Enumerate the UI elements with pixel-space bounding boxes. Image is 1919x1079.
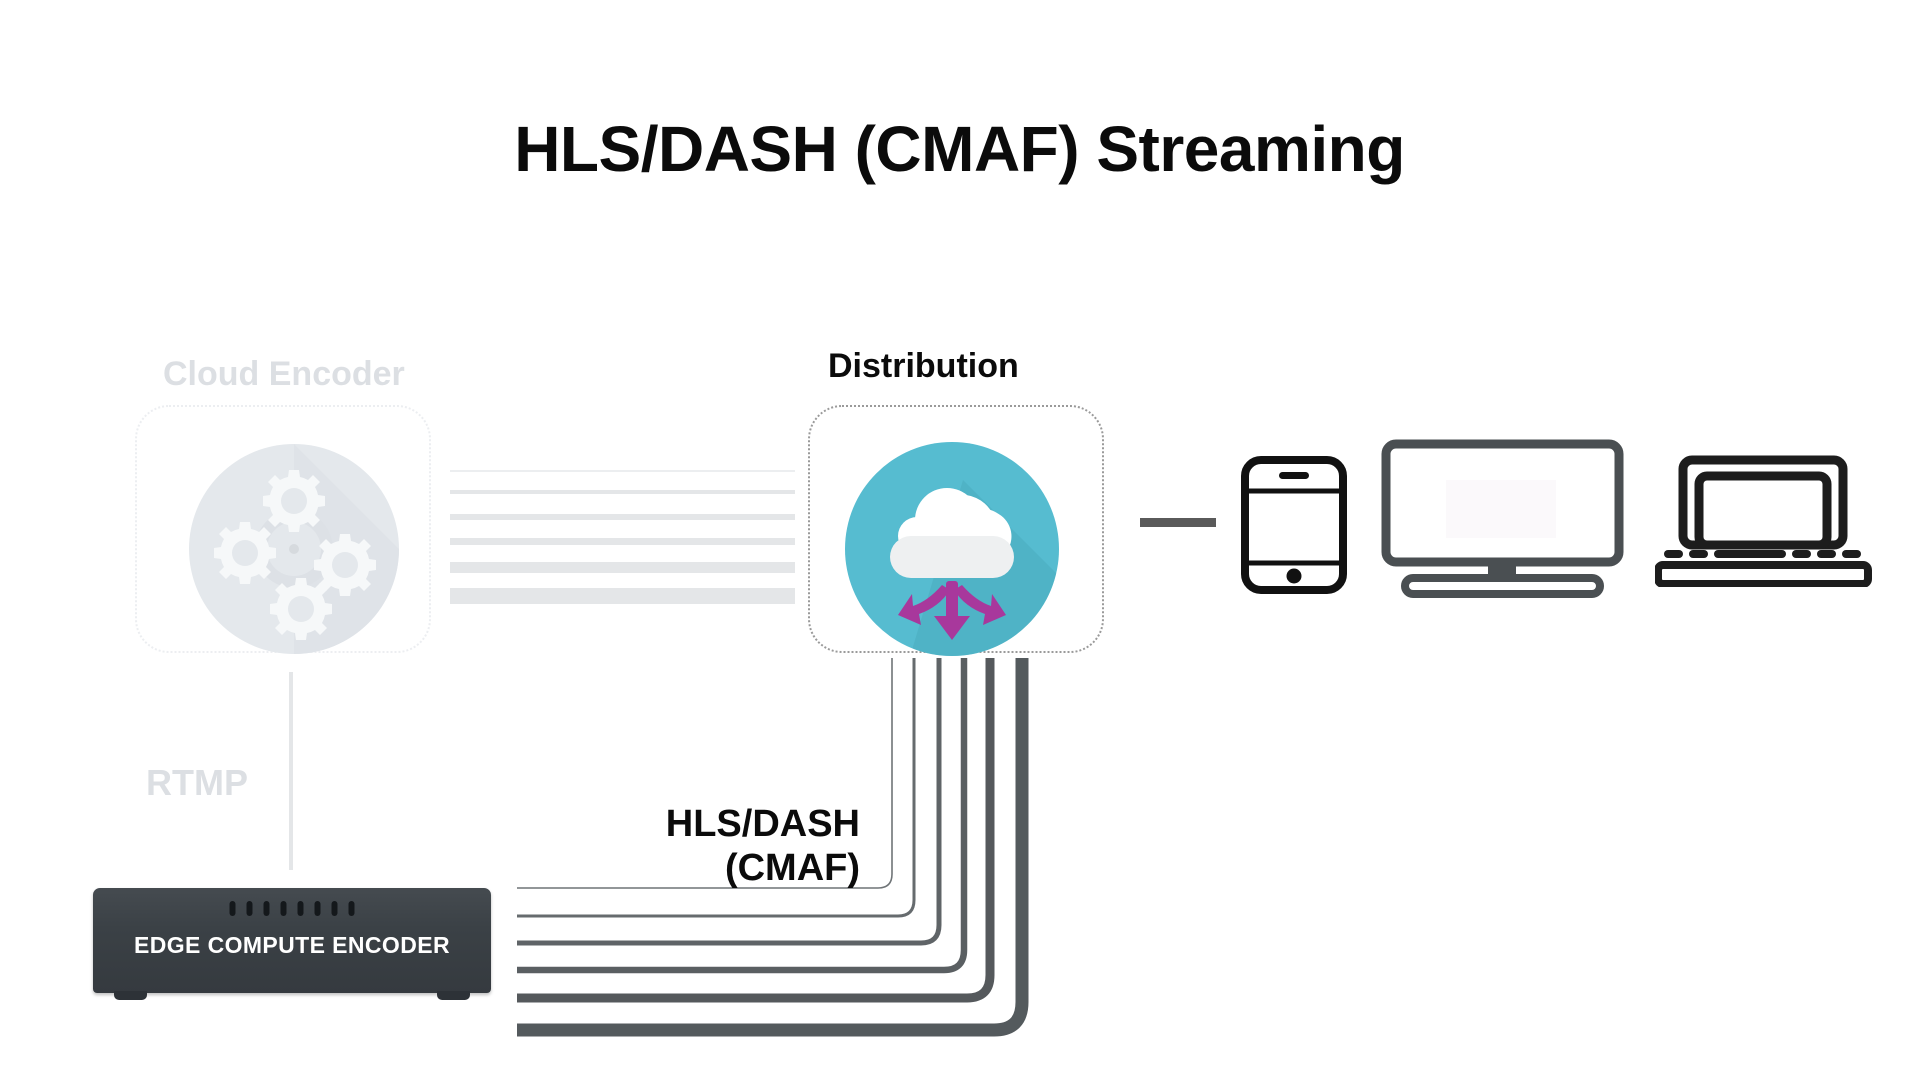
device-foot-right	[437, 991, 470, 1000]
cloud-download-icon	[843, 440, 1061, 658]
encoder-link-stroke-1	[450, 470, 795, 472]
hls-dash-link-label-line2: (CMAF)	[560, 846, 860, 890]
gears-circle-icon	[185, 440, 403, 658]
encoder-link-stroke-5	[450, 562, 795, 573]
vent-holes-icon	[230, 901, 355, 916]
rtmp-link-line	[289, 672, 293, 870]
encoder-link-stroke-3	[450, 514, 795, 520]
encoder-link-stroke-2	[450, 490, 795, 494]
hls-stroke-3	[517, 658, 939, 943]
edge-compute-encoder-device[interactable]: EDGE COMPUTE ENCODER	[93, 888, 491, 993]
encoder-link-stroke-6	[450, 588, 795, 604]
tv-monitor-icon[interactable]	[1380, 438, 1625, 603]
rtmp-link-label: RTMP	[146, 762, 248, 804]
hls-dash-link-label-line1: HLS/DASH	[560, 802, 860, 846]
laptop-icon[interactable]	[1655, 455, 1877, 592]
encoder-link-stroke-4	[450, 538, 795, 545]
edge-compute-encoder-label: EDGE COMPUTE ENCODER	[93, 932, 491, 959]
smartphone-icon[interactable]	[1240, 455, 1348, 600]
hls-dash-link-label: HLS/DASH (CMAF)	[560, 802, 860, 890]
distribution-label: Distribution	[828, 347, 1019, 386]
page-title: HLS/DASH (CMAF) Streaming	[0, 112, 1919, 186]
distribution-to-devices-connector	[1140, 518, 1216, 527]
device-foot-left	[114, 991, 147, 1000]
diagram-canvas: HLS/DASH (CMAF) Streaming Cloud Encoder	[0, 0, 1919, 1079]
cloud-encoder-label: Cloud Encoder	[163, 355, 405, 394]
